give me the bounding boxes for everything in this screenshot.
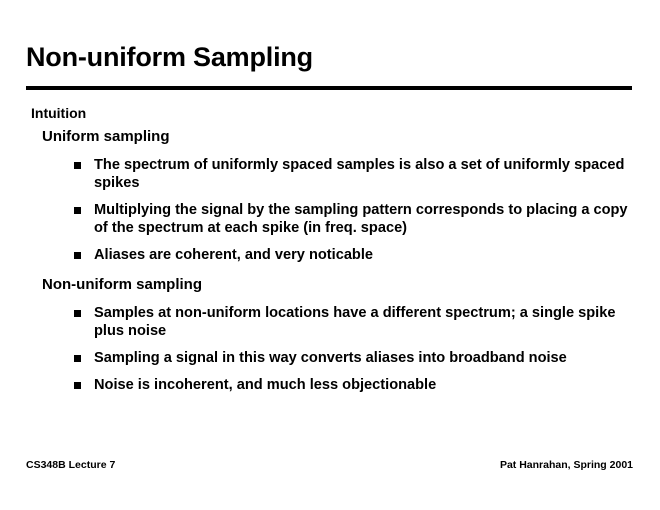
footer-lecture-label: CS348B Lecture 7	[26, 458, 115, 472]
footer-author-label: Pat Hanrahan, Spring 2001	[500, 458, 633, 472]
list-item: Samples at non-uniform locations have a …	[74, 304, 642, 340]
section-heading-intuition: Intuition	[31, 104, 660, 123]
list-item-text: The spectrum of uniformly spaced samples…	[94, 157, 624, 191]
bullet-list-non-uniform-sampling: Samples at non-uniform locations have a …	[0, 304, 660, 394]
page-title: Non-uniform Sampling	[26, 40, 634, 74]
square-bullet-icon	[74, 207, 81, 214]
title-block: Non-uniform Sampling	[26, 40, 634, 74]
list-item: The spectrum of uniformly spaced samples…	[74, 156, 642, 192]
list-item-text: Noise is incoherent, and much less objec…	[94, 377, 436, 393]
slide-footer: CS348B Lecture 7 Pat Hanrahan, Spring 20…	[26, 458, 633, 472]
list-item: Sampling a signal in this way converts a…	[74, 349, 642, 367]
bullet-list-uniform-sampling: The spectrum of uniformly spaced samples…	[0, 156, 660, 264]
list-item: Multiplying the signal by the sampling p…	[74, 201, 642, 237]
list-item-text: Multiplying the signal by the sampling p…	[94, 202, 628, 236]
subsection-heading-uniform-sampling: Uniform sampling	[42, 127, 660, 147]
list-item: Aliases are coherent, and very noticable	[74, 246, 642, 264]
square-bullet-icon	[74, 252, 81, 259]
list-item-text: Samples at non-uniform locations have a …	[94, 305, 615, 339]
slide: Non-uniform Sampling Intuition Uniform s…	[0, 0, 660, 510]
square-bullet-icon	[74, 355, 81, 362]
title-divider	[26, 86, 632, 90]
group-spacer	[0, 264, 660, 271]
subsection-heading-non-uniform-sampling: Non-uniform sampling	[42, 275, 660, 295]
list-item: Noise is incoherent, and much less objec…	[74, 376, 642, 394]
list-item-text: Aliases are coherent, and very noticable	[94, 247, 373, 263]
square-bullet-icon	[74, 310, 81, 317]
square-bullet-icon	[74, 382, 81, 389]
square-bullet-icon	[74, 162, 81, 169]
slide-body: Intuition Uniform sampling The spectrum …	[0, 104, 660, 394]
list-item-text: Sampling a signal in this way converts a…	[94, 350, 567, 366]
